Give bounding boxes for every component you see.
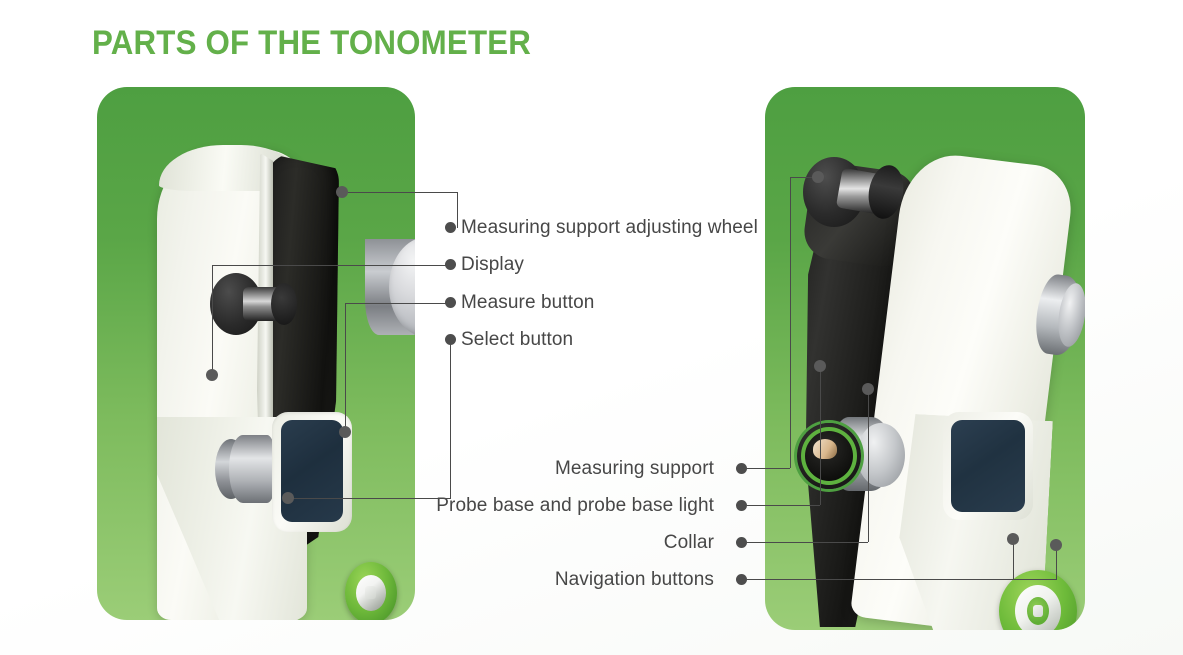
callout-label-navigation-buttons: Navigation buttons [555, 569, 714, 591]
leader-point-select-button [282, 492, 294, 504]
bullet-measuring-support [736, 463, 747, 474]
select-button-square-icon [365, 586, 376, 599]
leader-line-select-h [288, 498, 451, 499]
leader-point-measuring-support [812, 171, 824, 183]
display [281, 420, 343, 522]
probe-base [229, 435, 277, 503]
bullet-measure-button [445, 297, 456, 308]
measuring-support-cap [271, 283, 297, 325]
leader-point-display [206, 369, 218, 381]
bullet-measuring-support-adjusting-wheel [445, 222, 456, 233]
leader-line-measuring-support-h2 [747, 468, 790, 469]
page-title: PARTS OF THE TONOMETER [92, 24, 531, 63]
bullet-display [445, 259, 456, 270]
leader-line-measure-h [345, 303, 452, 304]
display [951, 420, 1025, 512]
bullet-collar [736, 537, 747, 548]
leader-point-collar [862, 383, 874, 395]
leader-line-adjusting-wheel-h [342, 192, 458, 193]
screenshot-canvas: PARTS OF THE TONOMETER [0, 0, 1183, 655]
bullet-select-button [445, 334, 456, 345]
leader-point-navigation-left [1007, 533, 1019, 545]
leader-line-adjusting-wheel-v [457, 192, 458, 228]
leader-line-measure-v [345, 303, 346, 432]
callout-label-measure-button: Measure button [461, 292, 594, 314]
leader-line-select-v [450, 340, 451, 498]
leader-line-probe-base-h [747, 505, 820, 506]
bullet-navigation-buttons [736, 574, 747, 585]
leader-line-probe-base-v [820, 366, 821, 505]
callout-label-measuring-support: Measuring support [555, 458, 714, 480]
callout-label-select-button: Select button [461, 329, 573, 351]
leader-line-measuring-support-v [790, 177, 791, 468]
leader-line-navigation-v1 [1013, 539, 1014, 579]
probe [813, 439, 837, 459]
callout-label-probe-base: Probe base and probe base light [436, 495, 714, 517]
leader-point-measure-button [339, 426, 351, 438]
leader-line-collar-v [868, 389, 869, 542]
callout-label-display: Display [461, 254, 524, 276]
leader-line-display-v [212, 265, 213, 375]
collar-face [857, 423, 905, 487]
leader-point-navigation-right [1050, 539, 1062, 551]
navigation-button-square-icon [1033, 605, 1043, 617]
left-device-panel [97, 87, 415, 620]
right-device-panel [765, 87, 1085, 630]
bullet-probe-base [736, 500, 747, 511]
callout-label-collar: Collar [664, 532, 714, 554]
leader-line-navigation-h [747, 579, 1057, 580]
leader-point-probe-base [814, 360, 826, 372]
leader-point-adjusting-wheel [336, 186, 348, 198]
callout-label-measuring-support-adjusting-wheel: Measuring support adjusting wheel [461, 217, 758, 239]
leader-line-display-h [212, 265, 452, 266]
leader-line-collar-h [747, 542, 868, 543]
